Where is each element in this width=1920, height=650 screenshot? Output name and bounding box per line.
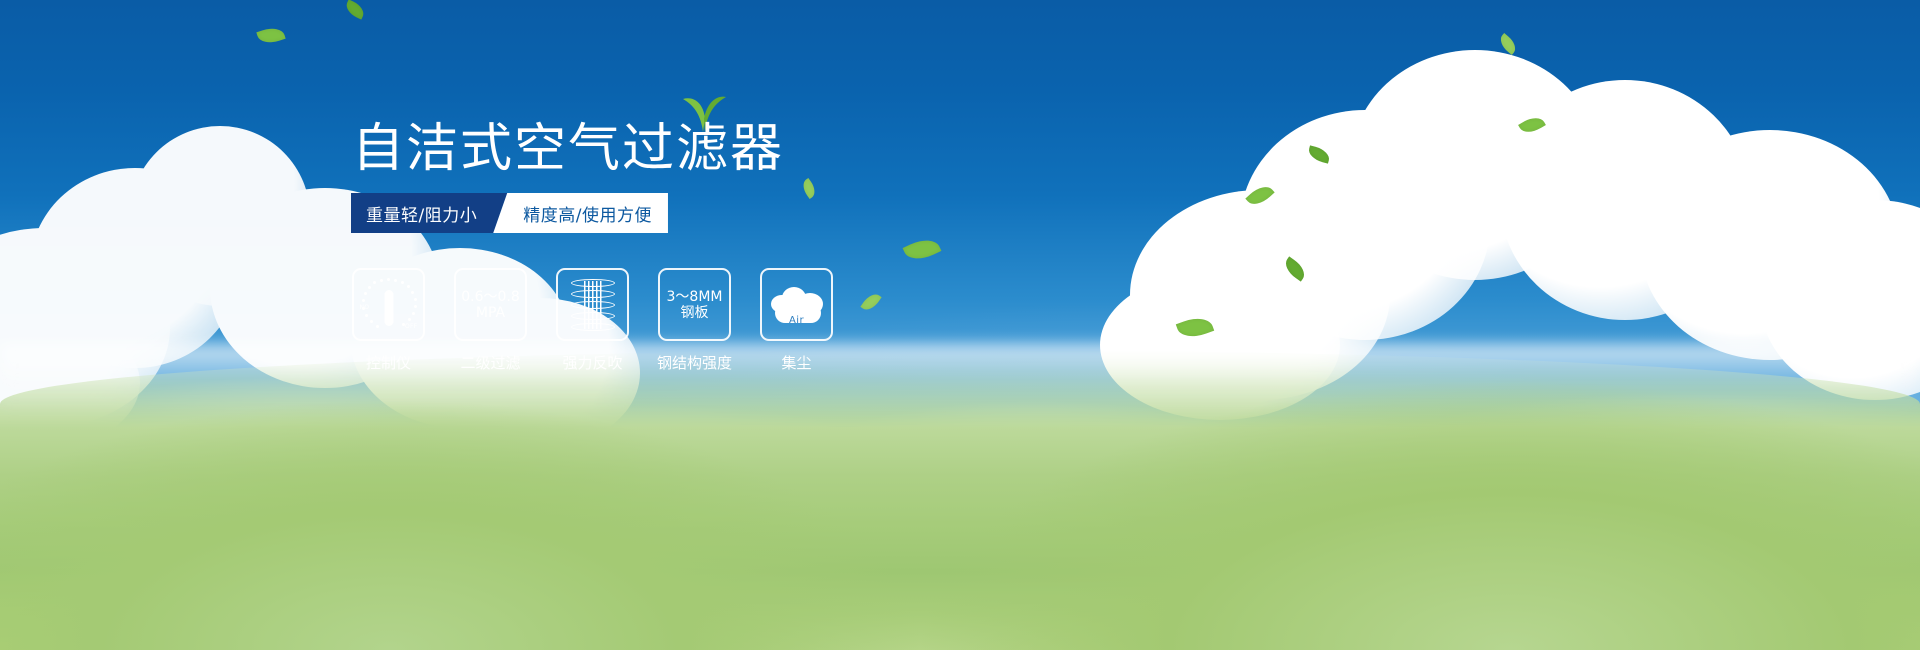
feature-icon-box: 3～8MM 钢板	[658, 268, 731, 341]
feature-item-back-blow[interactable]: 强力反吹	[556, 268, 629, 373]
feature-icon-box	[556, 268, 629, 341]
feature-icon-box: 0.6～0.8 MPA	[454, 268, 527, 341]
feature-label: 钢结构强度	[657, 352, 732, 373]
gauge-label-off: OFF	[405, 323, 418, 330]
page-title: 自洁式空气过滤器	[352, 121, 784, 177]
filter-coil-icon	[571, 279, 615, 331]
feature-label: 强力反吹	[562, 352, 622, 373]
gauge-label-no: NO	[360, 304, 370, 311]
feature-icon-box: Air	[760, 268, 833, 341]
pressure-text-icon: 0.6～0.8 MPA	[461, 289, 520, 321]
pressure-value-line: 0.6～0.8	[461, 289, 520, 305]
tag-pill-lightweight[interactable]: 重量轻/阻力小	[351, 193, 507, 233]
feature-label: 集尘	[781, 352, 811, 373]
gauge-dial-icon: NO OFF	[361, 277, 417, 333]
cloud-air-icon: Air	[769, 283, 825, 327]
steel-material-line: 钢板	[667, 305, 723, 321]
pressure-unit-line: MPA	[461, 305, 520, 321]
feature-label: 二级过滤	[460, 352, 520, 373]
feature-icon-box: NO OFF	[352, 268, 425, 341]
feature-icon-row: NO OFF 控制仪 0.6～0.8 MPA 二级过滤	[352, 268, 833, 373]
feature-item-steel-strength[interactable]: 3～8MM 钢板 钢结构强度	[658, 268, 731, 373]
feature-item-two-stage-filter[interactable]: 0.6～0.8 MPA 二级过滤	[454, 268, 527, 373]
air-label: Air	[769, 315, 825, 326]
feature-item-controller[interactable]: NO OFF 控制仪	[352, 268, 425, 373]
feature-label: 控制仪	[366, 352, 411, 373]
steel-thickness-line: 3～8MM	[667, 289, 723, 305]
gauge-needle	[384, 290, 393, 326]
tag-pill-group: 重量轻/阻力小 精度高/使用方便	[351, 193, 668, 233]
promo-banner: 自洁式空气过滤器 重量轻/阻力小 精度高/使用方便	[0, 0, 1920, 650]
banner-content: 自洁式空气过滤器 重量轻/阻力小 精度高/使用方便	[0, 0, 1920, 650]
feature-item-dust-collection[interactable]: Air 集尘	[760, 268, 833, 373]
tag-pill-precision[interactable]: 精度高/使用方便	[493, 193, 668, 233]
steel-plate-text-icon: 3～8MM 钢板	[667, 289, 723, 321]
